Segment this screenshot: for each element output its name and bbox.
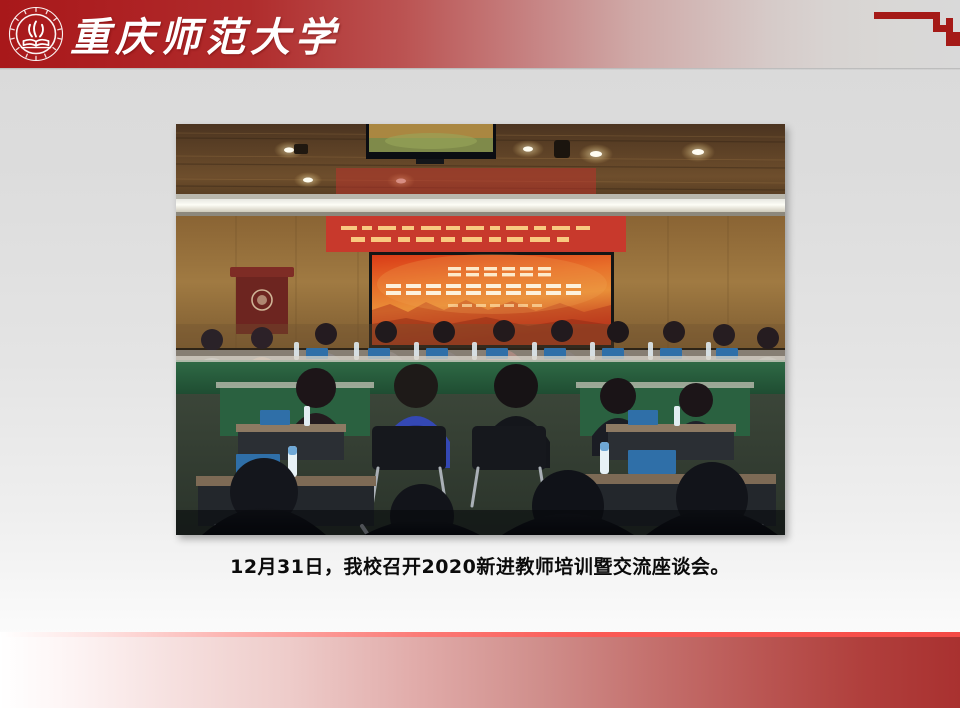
chinese-key-pattern-icon [874, 8, 960, 54]
university-name-title: 重庆师范大学 [70, 7, 340, 61]
university-logo-svg [8, 6, 64, 62]
meeting-photo-image [176, 124, 785, 535]
photo-caption: 12月31日，我校召开2020新进教师培训暨交流座谈会。 [0, 552, 960, 579]
presentation-slide: 重庆师范大学 [0, 0, 960, 720]
footer-banner [0, 637, 960, 708]
header-shadow [0, 68, 960, 70]
meeting-photo [176, 124, 785, 535]
corner-ornament-top-right-icon [874, 8, 960, 54]
footer-base-strip [0, 708, 960, 720]
university-logo-icon [8, 6, 64, 62]
